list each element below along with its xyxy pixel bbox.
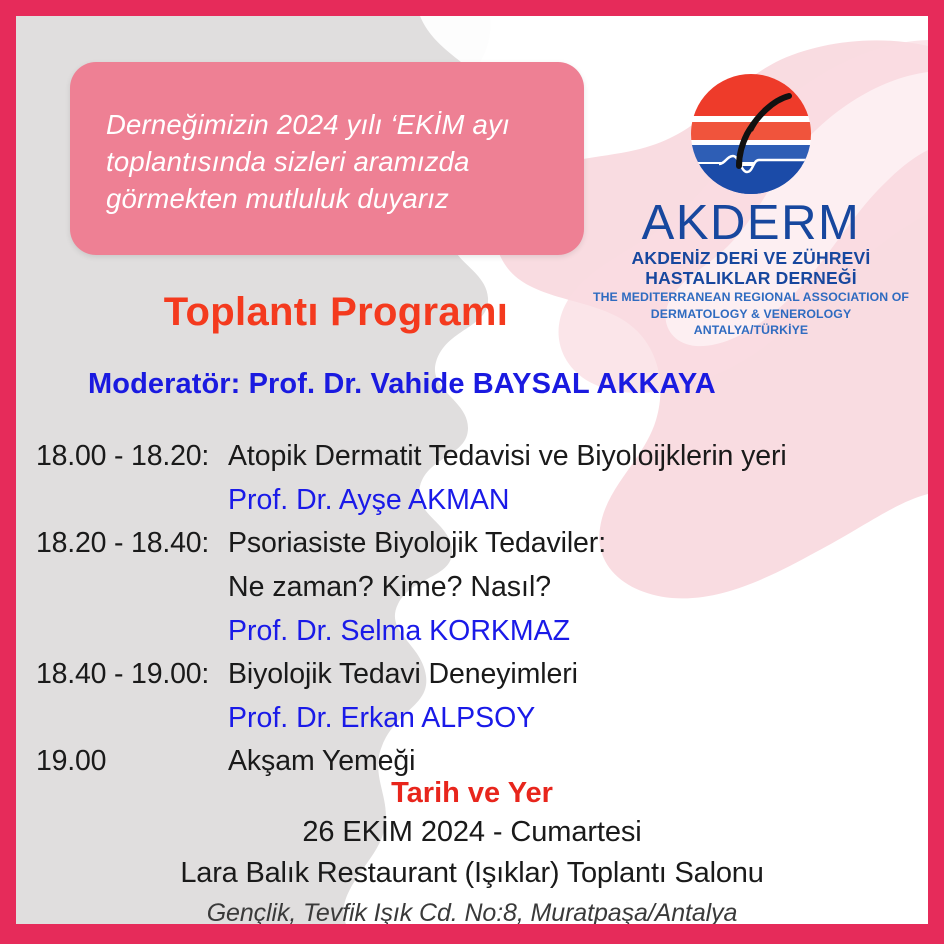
program-schedule: 18.00 - 18.20: Atopik Dermatit Tedavisi …: [36, 440, 916, 789]
footer-heading: Tarih ve Yer: [16, 774, 928, 812]
schedule-entry: 18.40 - 19.00: Biyolojik Tedavi Deneyiml…: [36, 658, 916, 745]
schedule-speaker: Prof. Dr. Ayşe AKMAN: [36, 484, 916, 527]
program-title: Toplantı Programı: [16, 290, 656, 335]
schedule-topic: Atopik Dermatit Tedavisi ve Biyoloijkler…: [228, 440, 787, 473]
schedule-entry: 18.00 - 18.20: Atopik Dermatit Tedavisi …: [36, 440, 916, 527]
akderm-emblem-icon: [689, 72, 813, 196]
event-venue: Lara Balık Restaurant (Işıklar) Toplantı…: [16, 853, 928, 894]
schedule-topic: Biyolojik Tedavi Deneyimleri: [228, 658, 578, 691]
invitation-banner: Derneğimizin 2024 yılı ‘EKİM ayı toplant…: [70, 62, 584, 255]
akderm-subtitle-line-1: AKDENİZ DERİ VE ZÜHREVİ: [591, 248, 911, 268]
schedule-topic: Psoriasiste Biyolojik Tedaviler:: [228, 527, 606, 560]
invitation-banner-text: Derneğimizin 2024 yılı ‘EKİM ayı toplant…: [106, 106, 564, 217]
moderator-line: Moderatör: Prof. Dr. Vahide BAYSAL AKKAY…: [88, 368, 716, 401]
akderm-subtitle-line-2: HASTALIKLAR DERNEĞİ: [591, 268, 911, 288]
poster-canvas: Derneğimizin 2024 yılı ‘EKİM ayı toplant…: [16, 16, 928, 924]
schedule-time: 18.00 - 18.20:: [36, 440, 228, 473]
table-row: 18.20 - 18.40: Psoriasiste Biyolojik Ted…: [36, 527, 916, 571]
poster-frame: Derneğimizin 2024 yılı ‘EKİM ayı toplant…: [0, 0, 944, 944]
schedule-time: 18.40 - 19.00:: [36, 658, 228, 691]
schedule-speaker: Prof. Dr. Selma KORKMAZ: [36, 615, 916, 658]
schedule-time: 18.20 - 18.40:: [36, 527, 228, 560]
akderm-wordmark: AKDERM: [591, 198, 911, 248]
table-row: 18.40 - 19.00: Biyolojik Tedavi Deneyiml…: [36, 658, 916, 702]
table-row: 18.00 - 18.20: Atopik Dermatit Tedavisi …: [36, 440, 916, 484]
event-date: 26 EKİM 2024 - Cumartesi: [16, 812, 928, 853]
schedule-entry: 18.20 - 18.40: Psoriasiste Biyolojik Ted…: [36, 527, 916, 658]
event-address: Gençlik, Tevfik Işık Cd. No:8, Muratpaşa…: [16, 894, 928, 924]
schedule-subtitle: Ne zaman? Kime? Nasıl?: [36, 571, 916, 615]
schedule-speaker: Prof. Dr. Erkan ALPSOY: [36, 702, 916, 745]
event-footer: Tarih ve Yer 26 EKİM 2024 - Cumartesi La…: [16, 774, 928, 924]
